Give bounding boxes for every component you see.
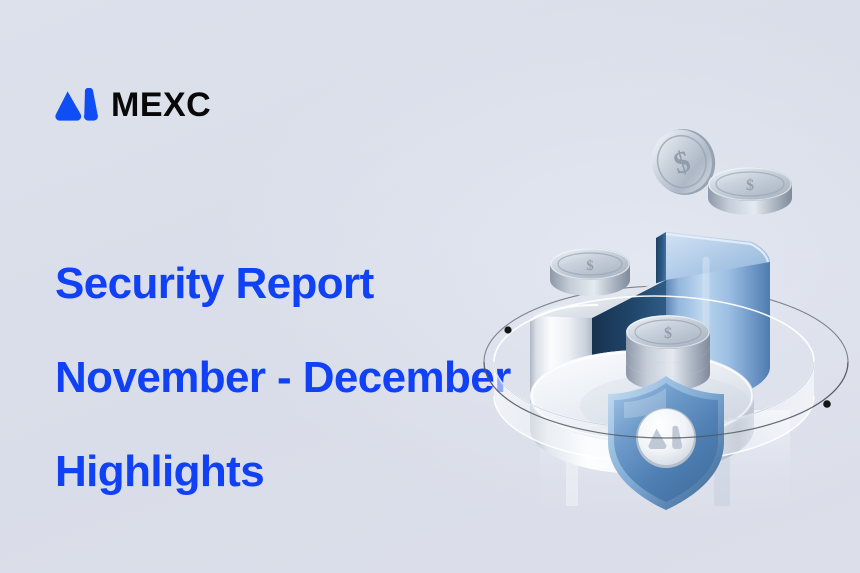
headline-line-3: Highlights <box>55 448 511 495</box>
brand-wordmark: MEXC <box>111 88 211 122</box>
banner-canvas: MEXC Security Report November - December… <box>0 0 860 573</box>
page-title: Security Report November - December High… <box>55 213 511 542</box>
3d-security-bar-chart-illustration: $ $ $ <box>470 110 860 540</box>
svg-text:$: $ <box>746 177 754 194</box>
coin-stack-left: $ <box>550 248 630 296</box>
headline-line-2: November - December <box>55 354 511 401</box>
svg-text:$: $ <box>586 258 594 274</box>
coin-flat: $ <box>708 167 792 215</box>
orbit-dot-left <box>504 326 511 333</box>
brand-lockup[interactable]: MEXC <box>55 88 211 122</box>
mexc-mountain-logo-icon <box>55 88 99 122</box>
svg-text:$: $ <box>664 325 672 342</box>
headline-line-1: Security Report <box>55 260 511 307</box>
orbit-dot-right <box>823 400 831 408</box>
